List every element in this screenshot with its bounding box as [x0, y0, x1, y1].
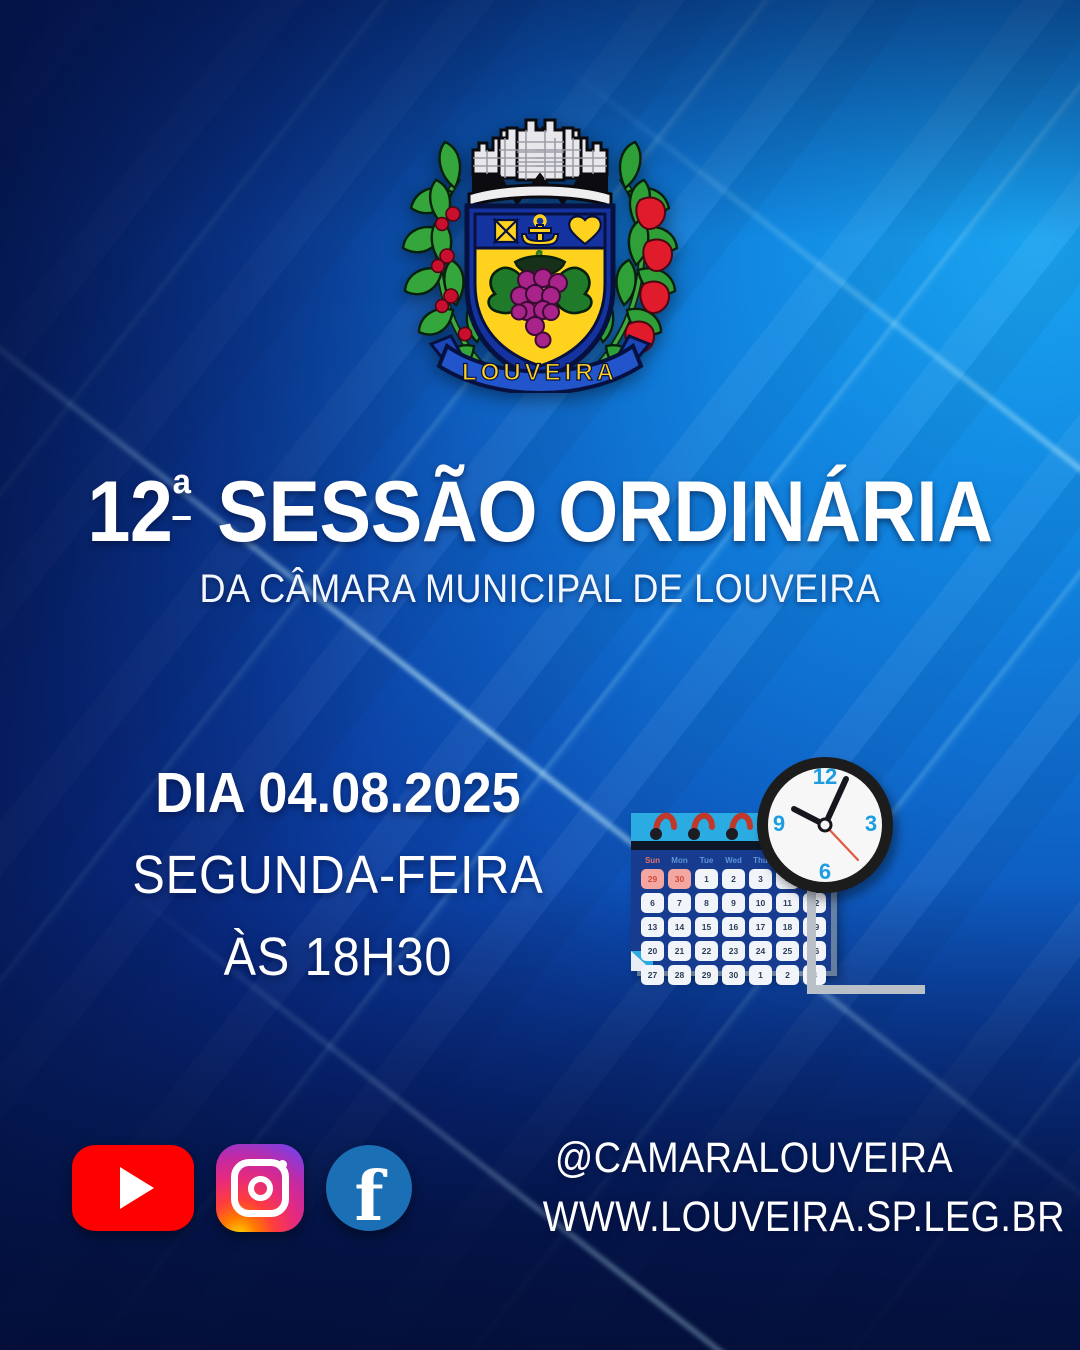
calendar-day-number: 1 — [704, 874, 709, 884]
event-details-block: DIA 04.08.2025 SEGUNDA-FEIRA ÀS 18H30 — [68, 760, 608, 988]
calendar-day-number: 17 — [756, 922, 766, 932]
coat-of-arms: LOUVEIRA — [395, 108, 685, 393]
calendar-day-number: 9 — [731, 898, 736, 908]
youtube-icon[interactable] — [72, 1145, 194, 1231]
calendar-day-number: 25 — [783, 946, 793, 956]
calendar-day-number: 20 — [648, 946, 658, 956]
calendar-weekday-sun: Sun — [645, 856, 660, 865]
calendar-day-number: 15 — [702, 922, 712, 932]
calendar-day-number: 29 — [702, 970, 712, 980]
clock-icon: 12 3 6 9 — [757, 757, 893, 893]
clock-numeral-9: 9 — [773, 811, 785, 836]
calendar-day-number: 21 — [675, 946, 685, 956]
website-url[interactable]: WWW.LOUVEIRA.SP.LEG.BR — [543, 1193, 965, 1242]
title-block: 12ª SESSÃO ORDINÁRIA DA CÂMARA MUNICIPAL… — [0, 468, 1080, 612]
play-triangle-icon — [120, 1167, 154, 1209]
calendar-day-number: 23 — [729, 946, 739, 956]
calendar-day-number: 11 — [783, 898, 792, 908]
event-weekday: SEGUNDA-FEIRA — [95, 844, 581, 906]
calendar-day-number: 27 — [648, 970, 658, 980]
crest-banner-text: LOUVEIRA — [462, 359, 618, 386]
mural-crown — [469, 120, 611, 206]
calendar-day-number: 30 — [675, 874, 685, 884]
page-title: 12ª SESSÃO ORDINÁRIA — [54, 468, 1026, 553]
session-number: 12 — [87, 464, 172, 560]
calendar-day-number: 16 — [729, 922, 739, 932]
event-date: DIA 04.08.2025 — [90, 760, 587, 826]
maltese-cross-icon — [495, 220, 517, 242]
contact-block: @CAMARALOUVEIRA WWW.LOUVEIRA.SP.LEG.BR — [514, 1134, 994, 1242]
calendar-day-number: 18 — [783, 922, 793, 932]
calendar-day-number: 28 — [675, 970, 685, 980]
calendar-day-number: 2 — [785, 970, 790, 980]
clock-numeral-3: 3 — [865, 811, 877, 836]
social-handle[interactable]: @CAMARALOUVEIRA — [543, 1134, 965, 1183]
calendar-day-number: 30 — [729, 970, 739, 980]
calendar-day-number: 3 — [758, 874, 763, 884]
facebook-f-glyph: f — [354, 1163, 383, 1231]
calendar-day-number: 10 — [756, 898, 766, 908]
clock-numeral-12: 12 — [813, 764, 837, 789]
calendar-day-number: 14 — [675, 922, 685, 932]
calendar-day-number: 24 — [756, 946, 766, 956]
facebook-icon[interactable]: f — [326, 1145, 412, 1231]
title-main-text: SESSÃO ORDINÁRIA — [196, 464, 993, 560]
calendar-day-number: 13 — [648, 922, 658, 932]
camera-lens-icon — [248, 1176, 273, 1201]
shield — [467, 206, 613, 380]
clock-numeral-6: 6 — [819, 859, 831, 884]
calendar-day-number: 29 — [648, 874, 658, 884]
session-announcement-poster: LOUVEIRA 12ª SESSÃO ORDINÁRIA DA CÂMARA … — [0, 0, 1080, 1350]
event-time: ÀS 18H30 — [95, 926, 581, 988]
calendar-day-number: 6 — [650, 898, 655, 908]
calendar-day-number: 1 — [758, 970, 763, 980]
calendar-day-number: 22 — [702, 946, 712, 956]
calendar-weekday-wed: Wed — [725, 856, 742, 865]
calendar-day-number: 7 — [677, 898, 682, 908]
camera-flash-dot-icon — [278, 1160, 287, 1169]
social-icons-row: f — [72, 1144, 412, 1232]
calendar-day-number: 2 — [731, 874, 736, 884]
ordinal-suffix: ª — [173, 462, 191, 525]
instagram-icon[interactable] — [216, 1144, 304, 1232]
calendar-weekday-mon: Mon — [671, 856, 688, 865]
calendar-clock-illustration: SunMonTueWedThuFriSat 293012345678910111… — [615, 745, 925, 1010]
calendar-day-number: 8 — [704, 898, 709, 908]
page-subtitle: DA CÂMARA MUNICIPAL DE LOUVEIRA — [54, 567, 1026, 612]
calendar-weekday-tue: Tue — [700, 856, 714, 865]
